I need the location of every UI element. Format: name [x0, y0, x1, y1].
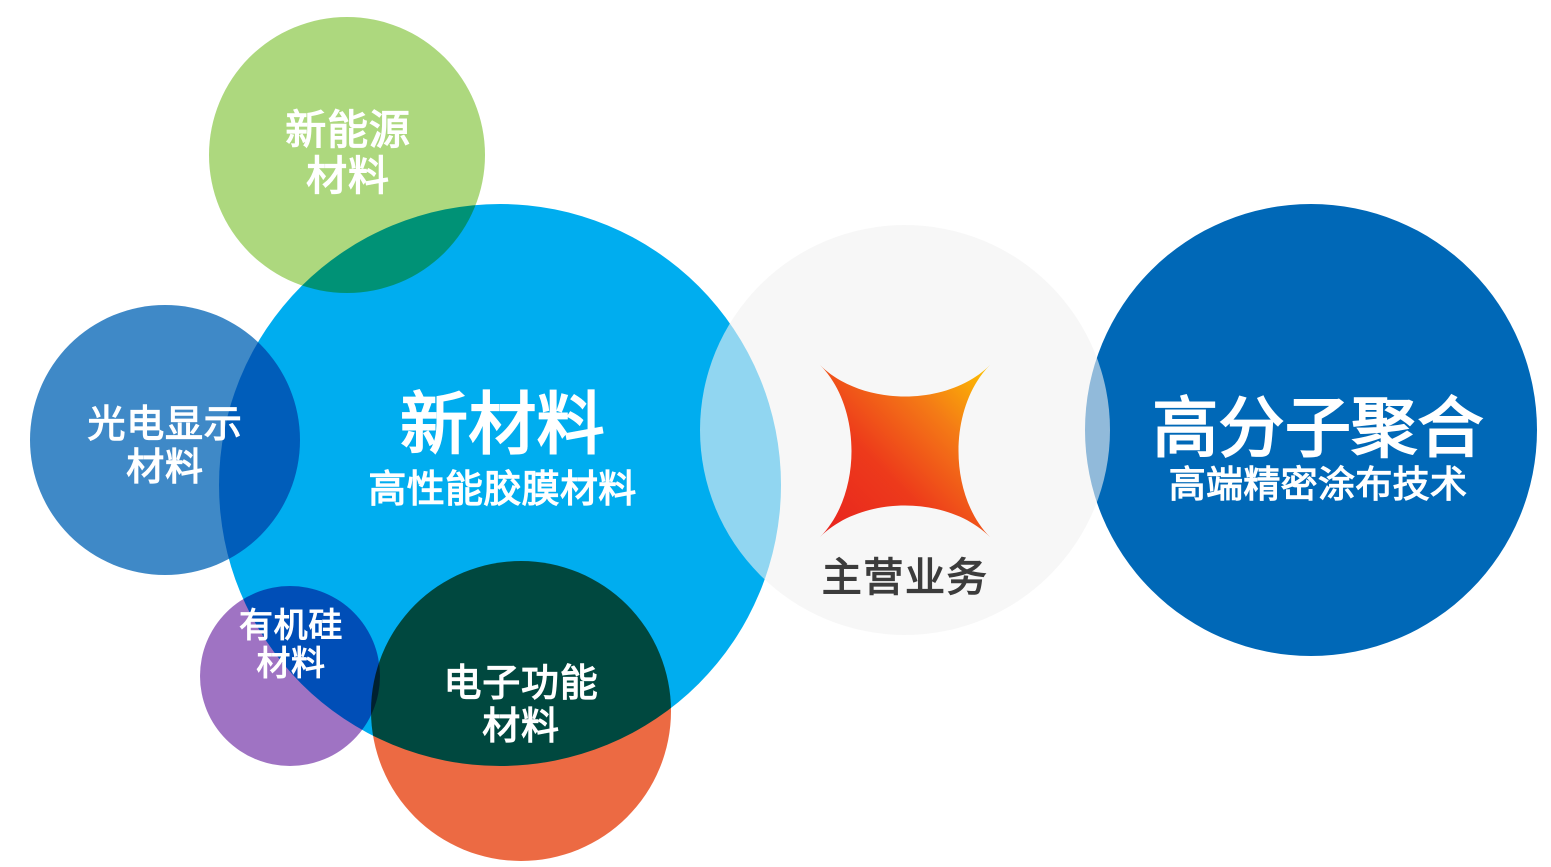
bubble-venn-svg	[0, 0, 1551, 867]
bubble-organosilicon-materials[interactable]	[200, 586, 380, 766]
bubble-polymer-polymerization[interactable]	[1085, 204, 1537, 656]
diagram-canvas: 新能源 材料 光电显示 材料 新材料 高性能胶膜材料 有机硅 材料 电子功能 材…	[0, 0, 1551, 867]
bubble-electronic-functional-materials[interactable]	[371, 561, 671, 861]
bubble-optoelectronic-display-materials[interactable]	[30, 305, 300, 575]
bubble-new-energy-materials[interactable]	[209, 17, 485, 293]
